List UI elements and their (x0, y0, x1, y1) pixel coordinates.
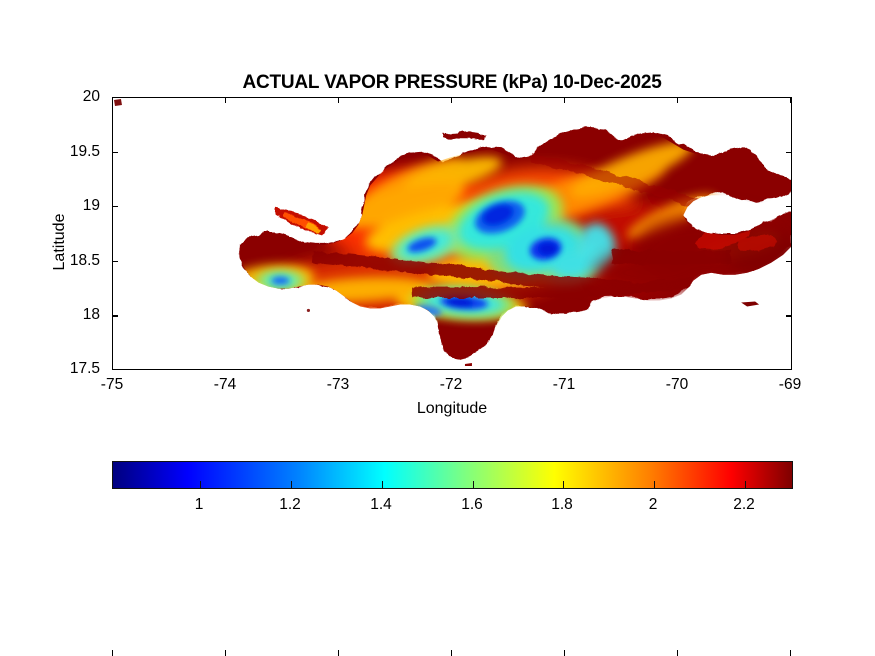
figure-canvas: ACTUAL VAPOR PRESSURE (kPa) 10-Dec-2025 (0, 0, 875, 656)
colorbar-label: 1.8 (551, 496, 573, 514)
xtick-mark-top (564, 97, 565, 103)
colorbar-tick (200, 481, 201, 488)
colorbar-label: 1.2 (279, 496, 301, 514)
ytick-mark-right (786, 206, 792, 207)
map-axes (112, 97, 792, 370)
xtick-mark (790, 650, 791, 656)
xtick-label: -71 (553, 376, 575, 394)
colorbar-tick (473, 481, 474, 488)
ytick-mark (112, 206, 118, 207)
ytick-mark (112, 315, 118, 316)
ytick-mark-right (786, 97, 792, 98)
ytick-label: 20 (0, 88, 100, 106)
xtick-mark (451, 650, 452, 656)
xtick-mark-top (225, 97, 226, 103)
map-plot-area (113, 98, 791, 369)
ytick-mark-right (786, 152, 792, 153)
xtick-label: -74 (214, 376, 236, 394)
colorbar-tick (291, 481, 292, 488)
xtick-mark-top (338, 97, 339, 103)
chart-title: ACTUAL VAPOR PRESSURE (kPa) 10-Dec-2025 (112, 72, 792, 94)
xtick-mark (564, 650, 565, 656)
xtick-label: -75 (101, 376, 123, 394)
small-islet-sw (307, 309, 310, 312)
ytick-mark-right (786, 315, 792, 316)
colorbar-tick (382, 481, 383, 488)
ytick-mark (112, 152, 118, 153)
xtick-mark-top (451, 97, 452, 103)
ytick-label: 19 (0, 197, 100, 215)
xtick-label: -72 (440, 376, 462, 394)
ytick-label: 18 (0, 306, 100, 324)
colorbar-tick (654, 481, 655, 488)
vapor-pressure-raster (113, 98, 791, 369)
ytick-label: 19.5 (0, 143, 100, 161)
ytick-label: 18.5 (0, 252, 100, 270)
ytick-label: 17.5 (0, 360, 100, 378)
xtick-mark (112, 650, 113, 656)
colorbar (112, 461, 793, 489)
xtick-label: -73 (327, 376, 349, 394)
ytick-mark (112, 261, 118, 262)
colorbar-label: 1 (195, 496, 204, 514)
colorbar-label: 2.2 (733, 496, 755, 514)
colorbar-tick (563, 481, 564, 488)
colorbar-label: 1.6 (461, 496, 483, 514)
ytick-mark (112, 97, 118, 98)
xtick-mark (677, 650, 678, 656)
y-axis-title: Latitude (51, 142, 69, 342)
xtick-label: -69 (779, 376, 801, 394)
colorbar-label: 2 (649, 496, 658, 514)
colorbar-tick (745, 481, 746, 488)
ytick-mark-right (786, 369, 792, 370)
xtick-label: -70 (666, 376, 688, 394)
xtick-mark (225, 650, 226, 656)
ytick-mark (112, 369, 118, 370)
xtick-mark (338, 650, 339, 656)
x-axis-title: Longitude (112, 400, 792, 418)
colorbar-label: 1.4 (370, 496, 392, 514)
nw-corner-speck (114, 99, 122, 106)
xtick-mark-top (677, 97, 678, 103)
ytick-mark-right (786, 261, 792, 262)
